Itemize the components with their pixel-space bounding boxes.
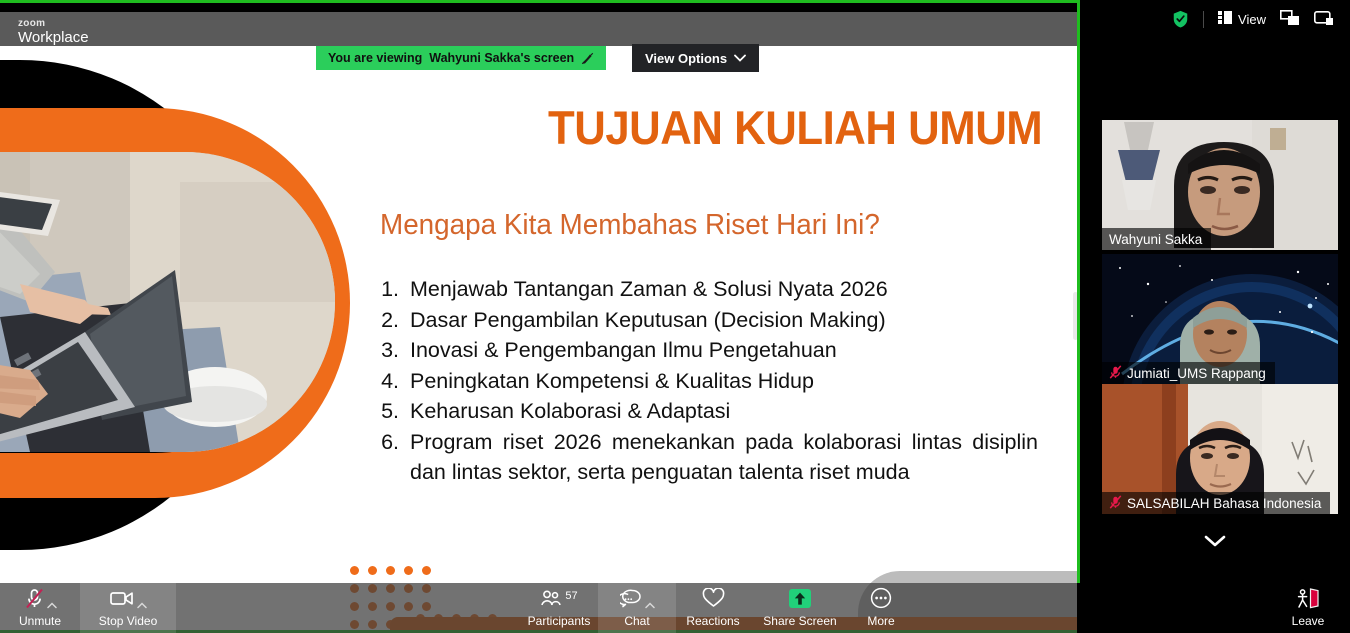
- leave-meeting-button[interactable]: Leave: [1276, 583, 1340, 633]
- more-label: More: [867, 615, 894, 628]
- screen-share-banner: You are viewing Wahyuni Sakka's screen: [316, 46, 606, 70]
- list-item: 5. Keharusan Kolaborasi & Adaptasi: [378, 396, 1038, 427]
- participant-name: SALSABILAH Bahasa Indonesia: [1127, 496, 1321, 511]
- laptop-photo: [0, 152, 335, 452]
- workplace-title: Workplace: [18, 29, 89, 46]
- unmute-label: Unmute: [19, 615, 61, 628]
- chevron-up-icon[interactable]: [47, 596, 56, 605]
- participant-name-bar: Jumiati_UMS Rappang: [1102, 362, 1275, 384]
- list-item: 1. Menjawab Tantangan Zaman & Solusi Nya…: [378, 274, 1038, 305]
- enter-fullscreen-icon: [1314, 10, 1334, 29]
- list-item-text: Inovasi & Pengembangan Ilmu Pengetahuan: [410, 335, 1038, 366]
- slide-bullet-list: 1. Menjawab Tantangan Zaman & Solusi Nya…: [378, 274, 1038, 488]
- participant-video-strip: Wahyuni Sakka: [1080, 42, 1350, 582]
- chevron-down-icon: [1203, 534, 1227, 553]
- view-options-label: View Options: [645, 51, 727, 66]
- security-shield-button[interactable]: [1172, 10, 1189, 28]
- pencil-slash-icon: [581, 52, 594, 65]
- minimize-window-button[interactable]: [1280, 10, 1300, 29]
- participants-button[interactable]: 57 Participants: [520, 583, 598, 633]
- ellipsis-icon: [870, 587, 892, 614]
- share-screen-button[interactable]: Share Screen: [750, 583, 850, 633]
- green-up-arrow-icon: [788, 588, 812, 614]
- chat-button[interactable]: Chat: [598, 583, 676, 633]
- list-item-number: 3.: [378, 335, 399, 366]
- view-options-button[interactable]: View Options: [632, 44, 759, 72]
- participant-name: Wahyuni Sakka: [1109, 232, 1202, 247]
- meeting-toolbar: Unmute Stop Video: [0, 583, 1350, 633]
- minimize-window-icon: [1280, 10, 1300, 29]
- leave-label: Leave: [1292, 615, 1325, 628]
- people-icon: [540, 590, 562, 612]
- participants-count: 57: [565, 590, 577, 602]
- stop-video-button[interactable]: Stop Video: [80, 583, 176, 633]
- participant-name-bar: SALSABILAH Bahasa Indonesia: [1102, 492, 1330, 514]
- top-right-controls: View: [1080, 0, 1350, 38]
- participant-name-bar: Wahyuni Sakka: [1102, 228, 1211, 250]
- participant-name: Jumiati_UMS Rappang: [1127, 366, 1266, 381]
- list-item-number: 4.: [378, 366, 399, 397]
- mic-muted-icon: [1109, 495, 1122, 512]
- slide-subtitle: Mengapa Kita Membahas Riset Hari Ini?: [380, 209, 880, 242]
- more-button[interactable]: More: [850, 583, 912, 633]
- share-screen-label: Share Screen: [763, 615, 836, 628]
- chat-bubble-icon: [620, 589, 642, 613]
- participant-tile[interactable]: SALSABILAH Bahasa Indonesia: [1102, 384, 1338, 514]
- scroll-down-participants-button[interactable]: [1080, 534, 1350, 553]
- reactions-label: Reactions: [686, 615, 739, 628]
- list-item-text: Peningkatan Kompetensi & Kualitas Hidup: [410, 366, 1038, 397]
- list-item-text: Program riset 2026 menekankan pada kolab…: [410, 427, 1038, 488]
- presenter-name-label: Wahyuni Sakka's screen: [429, 51, 574, 65]
- list-item-number: 6.: [378, 427, 399, 458]
- chevron-down-icon: [734, 49, 746, 67]
- camera-icon: [110, 590, 134, 612]
- list-item-number: 1.: [378, 274, 399, 305]
- layout-grid-icon: [1218, 11, 1233, 27]
- zoom-meeting-window: zoom Workplace: [0, 0, 1350, 633]
- view-label: View: [1238, 12, 1266, 27]
- participants-label: Participants: [528, 615, 591, 628]
- fullscreen-button[interactable]: [1314, 10, 1334, 29]
- list-item: 3. Inovasi & Pengembangan Ilmu Pengetahu…: [378, 335, 1038, 366]
- view-layout-button[interactable]: View: [1218, 11, 1266, 27]
- green-shield-icon: [1172, 10, 1189, 28]
- laptop-photo-art: [0, 152, 335, 452]
- mic-muted-icon: [25, 588, 44, 614]
- participant-tile[interactable]: Wahyuni Sakka: [1102, 120, 1338, 250]
- shared-content-scroll-thumb[interactable]: [1073, 292, 1078, 340]
- list-item: 6. Program riset 2026 menekankan pada ko…: [378, 427, 1038, 488]
- list-item-text: Keharusan Kolaborasi & Adaptasi: [410, 396, 1038, 427]
- toolbar-divider: [1203, 11, 1204, 28]
- presentation-slide: TUJUAN KULIAH UMUM Mengapa Kita Membahas…: [0, 46, 1077, 630]
- viewing-prefix-label: You are viewing: [328, 51, 422, 65]
- slide-title: TUJUAN KULIAH UMUM: [548, 100, 1042, 155]
- unmute-button[interactable]: Unmute: [0, 583, 80, 633]
- exit-door-icon: [1295, 587, 1321, 614]
- zoom-workplace-header: zoom Workplace: [0, 12, 1077, 46]
- list-item-number: 2.: [378, 305, 399, 336]
- shared-screen-region: zoom Workplace: [0, 0, 1080, 633]
- list-item-number: 5.: [378, 396, 399, 427]
- stop-video-label: Stop Video: [99, 615, 158, 628]
- mic-muted-icon: [1109, 365, 1122, 382]
- chat-label: Chat: [624, 615, 649, 628]
- zoom-logo-text: zoom: [18, 18, 45, 29]
- list-item-text: Dasar Pengambilan Keputusan (Decision Ma…: [410, 305, 1038, 336]
- chevron-up-icon[interactable]: [137, 596, 146, 605]
- list-item: 2. Dasar Pengambilan Keputusan (Decision…: [378, 305, 1038, 336]
- list-item: 4. Peningkatan Kompetensi & Kualitas Hid…: [378, 366, 1038, 397]
- participant-tile[interactable]: Jumiati_UMS Rappang: [1102, 254, 1338, 384]
- list-item-text: Menjawab Tantangan Zaman & Solusi Nyata …: [410, 274, 1038, 305]
- heart-icon: [702, 588, 725, 613]
- reactions-button[interactable]: Reactions: [676, 583, 750, 633]
- chevron-up-icon[interactable]: [645, 596, 654, 605]
